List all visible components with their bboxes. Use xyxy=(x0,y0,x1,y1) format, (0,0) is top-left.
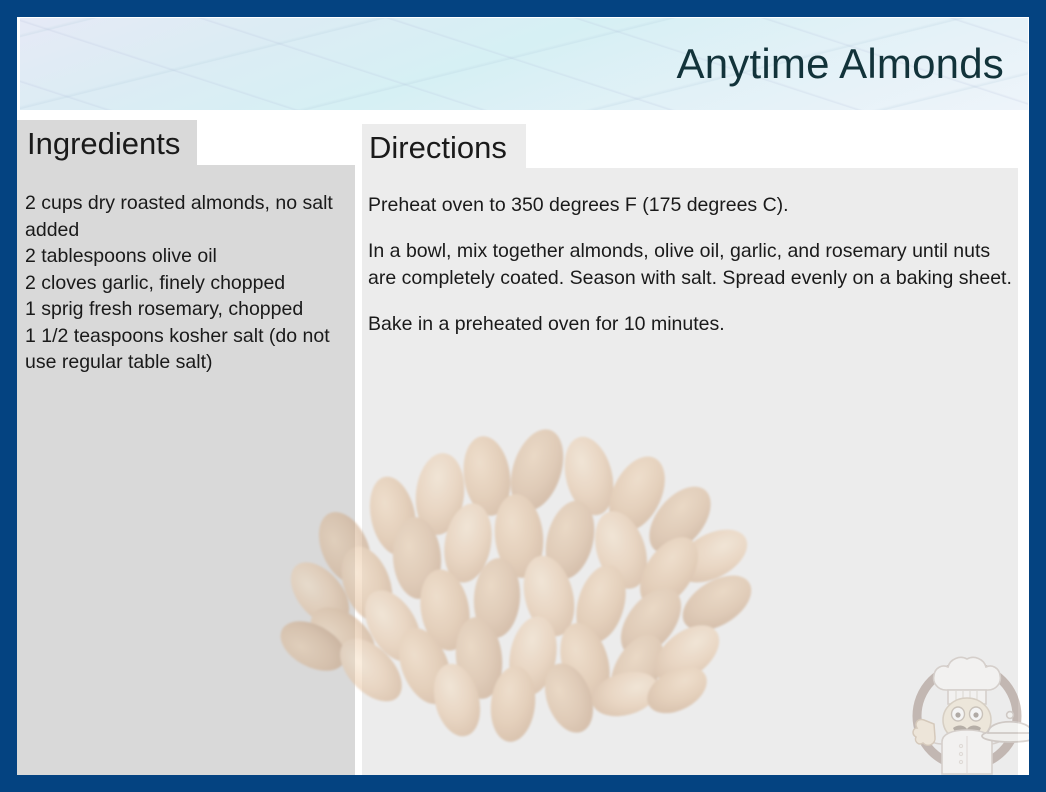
directions-steps: Preheat oven to 350 degrees F (175 degre… xyxy=(368,192,1014,338)
ingredients-list: 2 cups dry roasted almonds, no salt adde… xyxy=(25,190,337,376)
list-item: 2 cups dry roasted almonds, no salt adde… xyxy=(25,190,337,243)
list-item: 2 tablespoons olive oil xyxy=(25,243,337,270)
list-item: 2 cloves garlic, finely chopped xyxy=(25,270,337,297)
list-item: 1 1/2 teaspoons kosher salt (do not use … xyxy=(25,323,337,376)
title-banner: Anytime Almonds xyxy=(20,18,1028,110)
directions-heading: Directions xyxy=(369,132,507,163)
recipe-slide: Anytime Almonds Ingredients 2 cups dry r… xyxy=(0,0,1046,792)
direction-step: Bake in a preheated oven for 10 minutes. xyxy=(368,311,1014,338)
page-title: Anytime Almonds xyxy=(677,40,1004,88)
list-item: 1 sprig fresh rosemary, chopped xyxy=(25,296,337,323)
direction-step: In a bowl, mix together almonds, olive o… xyxy=(368,238,1014,292)
ingredients-heading: Ingredients xyxy=(27,128,180,159)
direction-step: Preheat oven to 350 degrees F (175 degre… xyxy=(368,192,1014,219)
